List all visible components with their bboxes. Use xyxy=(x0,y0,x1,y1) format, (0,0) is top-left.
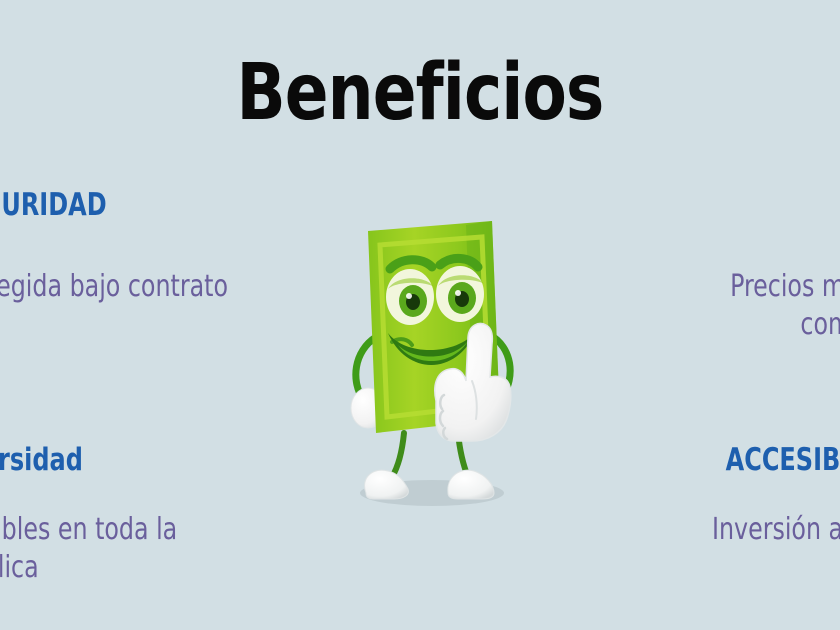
benefit-body-accesibilidad-line-1: Inversión acorde a xyxy=(712,511,840,549)
benefit-body-diversidad-line-1: sponibles en toda la xyxy=(0,511,177,549)
slide-canvas: Beneficios SEGURIDAD protegida bajo cont… xyxy=(0,0,840,630)
benefit-block-ahorro: AHORRO Precios muy por de comerc xyxy=(699,188,840,344)
benefit-heading-diversidad: Diversidad xyxy=(0,443,172,477)
benefit-heading-accesibilidad: ACCESIBILIDAD xyxy=(717,443,840,477)
benefit-body-ahorro-line-2: comerc xyxy=(730,306,840,344)
benefit-block-accesibilidad: ACCESIBILIDAD Inversión acorde a xyxy=(682,443,840,549)
character-left-shoe xyxy=(365,470,409,499)
benefit-body-seguridad-line-1: protegida bajo contrato xyxy=(0,268,228,306)
benefit-block-seguridad: SEGURIDAD protegida bajo contrato xyxy=(0,188,266,306)
benefit-heading-ahorro: AHORRO xyxy=(735,188,840,222)
page-title: Beneficios xyxy=(34,50,807,136)
dollar-bill-character xyxy=(340,205,530,510)
character-left-eye-highlight xyxy=(406,293,412,299)
benefit-body-diversidad-line-2: epublica xyxy=(0,549,177,587)
character-left-leg xyxy=(392,433,404,477)
character-right-shoe xyxy=(448,470,494,499)
character-right-eye-highlight xyxy=(455,290,461,296)
benefit-heading-seguridad: SEGURIDAD xyxy=(0,188,222,222)
benefit-block-diversidad: Diversidad sponibles en toda la epublica xyxy=(0,443,210,587)
benefit-body-ahorro-line-1: Precios muy por de xyxy=(730,268,840,306)
